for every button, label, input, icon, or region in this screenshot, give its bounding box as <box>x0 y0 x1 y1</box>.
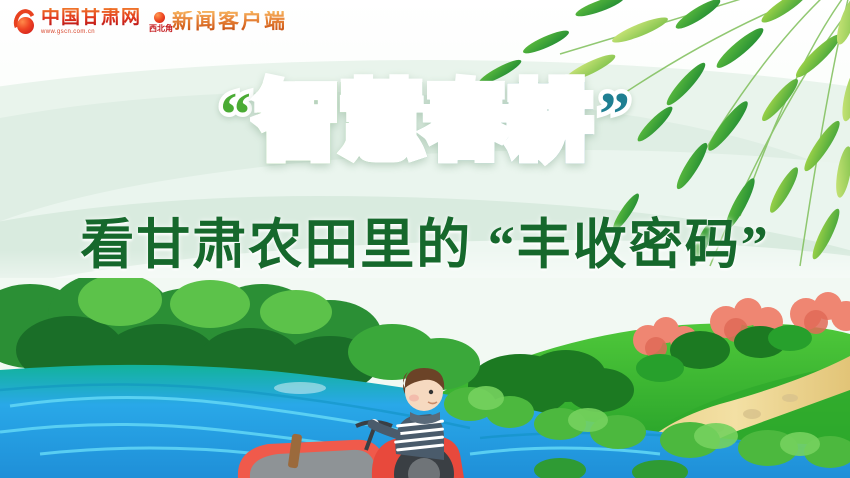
app-logo-name: 新闻客户端 <box>172 11 287 32</box>
xibeijiao-swoosh-icon: 西北角 <box>151 10 167 34</box>
quote-close: ” <box>599 88 630 144</box>
gansu-net-swoosh-icon <box>14 9 36 35</box>
quote-open: “ <box>220 88 251 144</box>
header-logos: 中国甘肃网 www.gscn.com.cn 西北角 新闻客户端 <box>14 8 287 35</box>
headline: “ 智慧春耕 ” <box>0 82 850 164</box>
page-title: 智慧春耕 <box>257 82 593 164</box>
app-logo[interactable]: 西北角 新闻客户端 <box>151 10 287 34</box>
site-logo[interactable]: 中国甘肃网 www.gscn.com.cn <box>14 8 141 35</box>
site-logo-url: www.gscn.com.cn <box>41 29 141 35</box>
app-logo-seal: 西北角 <box>149 23 173 34</box>
spring-farming-illustration <box>0 278 850 478</box>
site-logo-name: 中国甘肃网 <box>41 8 141 27</box>
page-subtitle: 看甘肃农田里的 “丰收密码” <box>0 216 850 275</box>
poster: 中国甘肃网 www.gscn.com.cn 西北角 新闻客户端 “ 智慧春耕 ”… <box>0 0 850 478</box>
